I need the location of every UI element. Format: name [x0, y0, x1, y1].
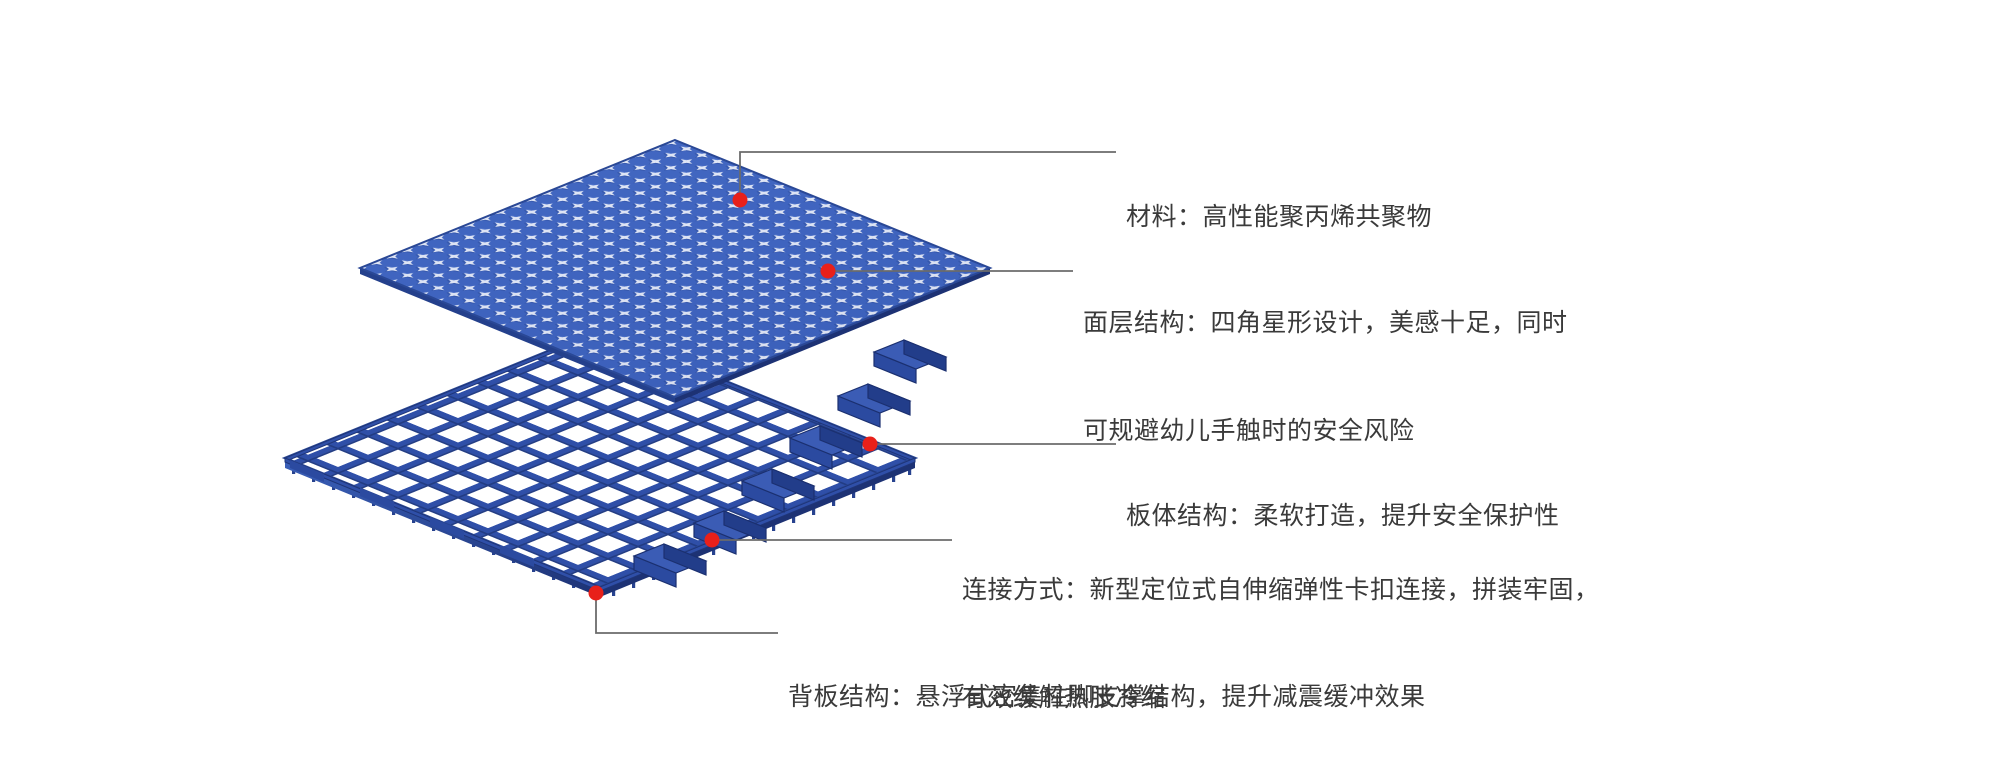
- callout-label-backplate-structure-line-1: 背板结构：悬浮式密集柱脚支撑结构，提升减震缓冲效果: [788, 679, 1426, 715]
- callout-dot-panel-structure: [863, 437, 878, 452]
- callout-label-connection-method-line-1: 连接方式：新型定位式自伸缩弹性卡扣连接，拼装牢固，: [962, 572, 1600, 608]
- callout-dot-surface-structure: [821, 264, 836, 279]
- leader-line-backplate-structure: [596, 593, 778, 633]
- diagram-stage: 材料：高性能聚丙烯共聚物 面层结构：四角星形设计，美感十足，同时 可规避幼儿手触…: [0, 0, 2000, 761]
- callout-label-surface-structure-line-1: 面层结构：四角星形设计，美感十足，同时: [1083, 305, 1568, 341]
- callout-dot-connection-method: [705, 533, 720, 548]
- callout-dot-material: [733, 193, 748, 208]
- callout-dot-backplate-structure: [589, 586, 604, 601]
- callout-label-material-line-1: 材料：高性能聚丙烯共聚物: [1126, 199, 1432, 235]
- callout-label-backplate-structure: 背板结构：悬浮式密集柱脚支撑结构，提升减震缓冲效果: [788, 607, 1426, 761]
